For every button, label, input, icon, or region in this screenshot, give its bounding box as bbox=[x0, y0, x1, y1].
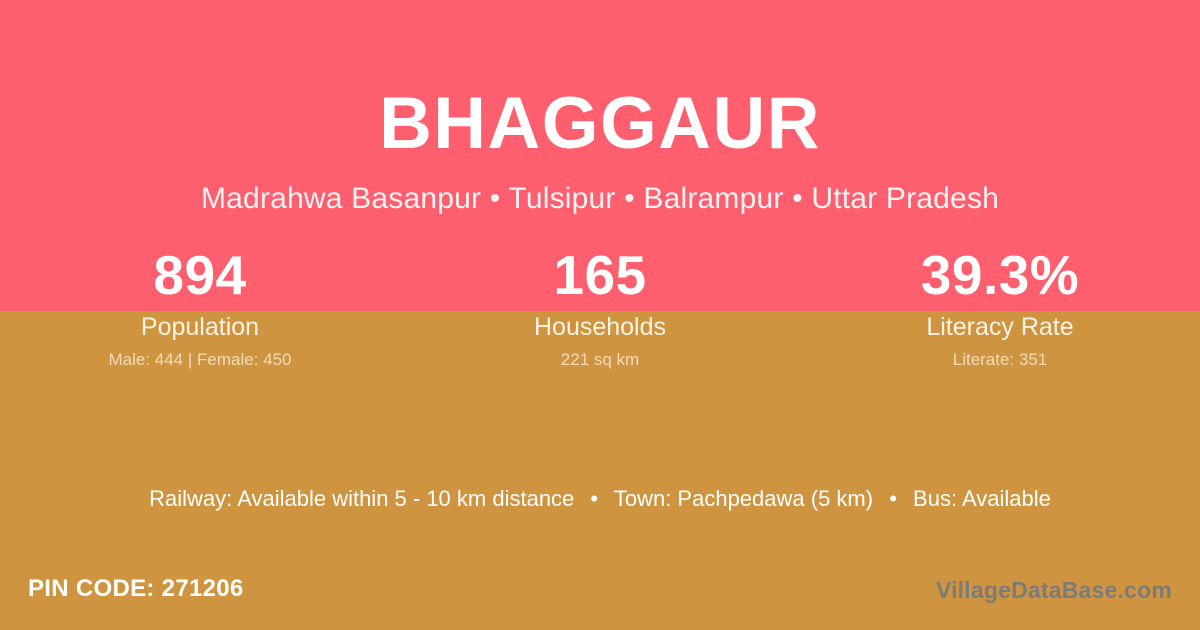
stat-sublabel: 221 sq km bbox=[400, 349, 800, 371]
amenity-separator-icon: • bbox=[879, 484, 907, 514]
stat-literacy-rate: 39.3% Literacy Rate Literate: 351 bbox=[800, 243, 1200, 371]
village-info-card: BHAGGAUR Madrahwa Basanpur • Tulsipur • … bbox=[0, 0, 1200, 630]
stat-value: 165 bbox=[400, 243, 800, 307]
stat-sublabel: Male: 444 | Female: 450 bbox=[0, 349, 400, 371]
page-title: BHAGGAUR bbox=[0, 82, 1200, 166]
stat-label: Households bbox=[400, 311, 800, 343]
stat-population: 894 Population Male: 444 | Female: 450 bbox=[0, 243, 400, 371]
card-header: BHAGGAUR Madrahwa Basanpur • Tulsipur • … bbox=[0, 0, 1200, 218]
amenities-row: Railway: Available within 5 - 10 km dist… bbox=[0, 484, 1200, 514]
breadcrumb: Madrahwa Basanpur • Tulsipur • Balrampur… bbox=[0, 180, 1200, 218]
stat-sublabel: Literate: 351 bbox=[800, 349, 1200, 371]
stat-households: 165 Households 221 sq km bbox=[400, 243, 800, 371]
stat-value: 894 bbox=[0, 243, 400, 307]
site-brand-logo: VillageDataBase.com bbox=[936, 574, 1172, 606]
amenity-separator-icon: • bbox=[580, 484, 608, 514]
amenity-railway: Railway: Available within 5 - 10 km dist… bbox=[149, 486, 574, 511]
stat-value: 39.3% bbox=[800, 243, 1200, 307]
amenity-town: Town: Pachpedawa (5 km) bbox=[614, 486, 873, 511]
card-footer: PIN CODE: 271206 VillageDataBase.com bbox=[0, 572, 1200, 616]
stat-label: Literacy Rate bbox=[800, 311, 1200, 343]
pin-code: PIN CODE: 271206 bbox=[28, 572, 244, 606]
stat-label: Population bbox=[0, 311, 400, 343]
stats-row: 894 Population Male: 444 | Female: 450 1… bbox=[0, 243, 1200, 371]
amenity-bus: Bus: Available bbox=[913, 486, 1051, 511]
